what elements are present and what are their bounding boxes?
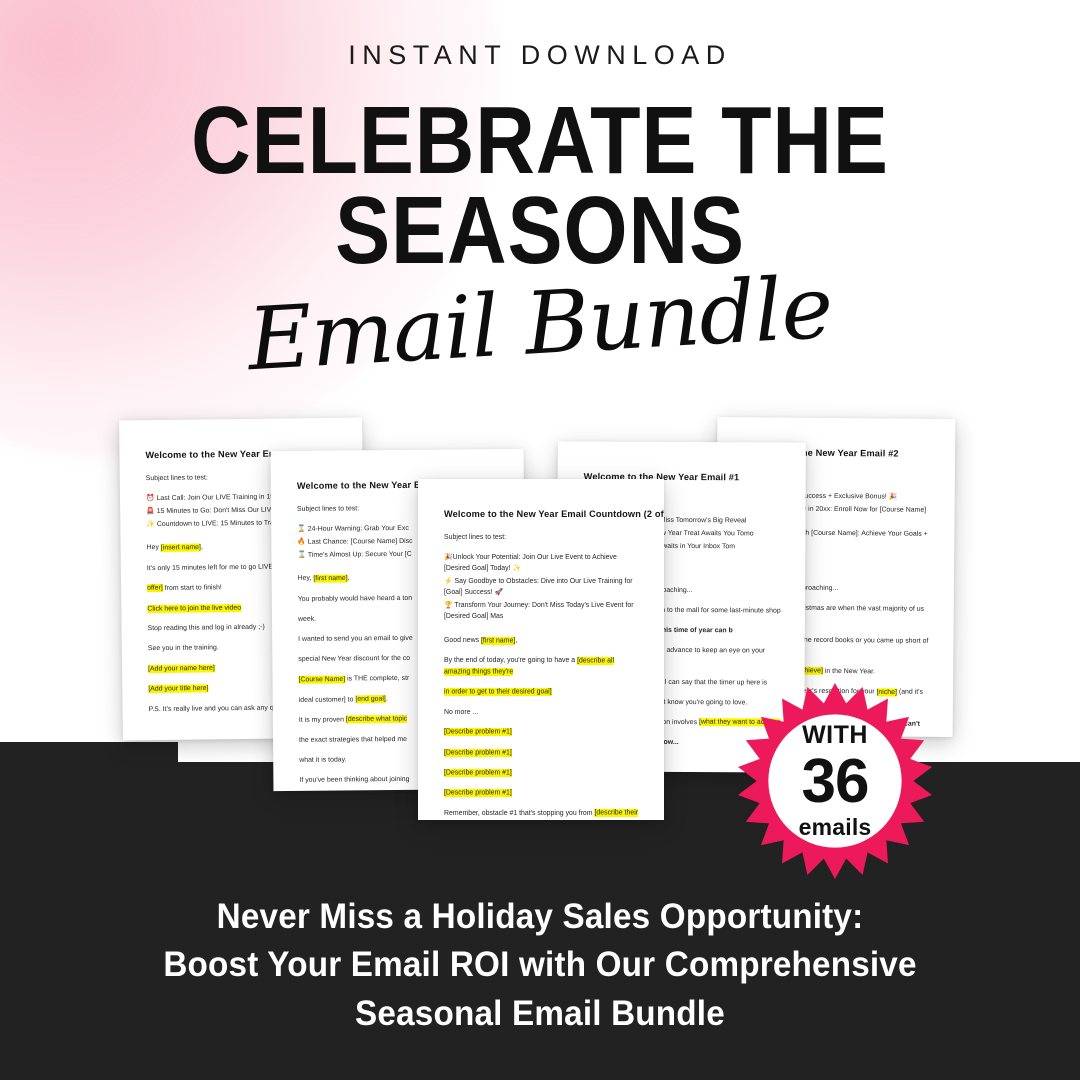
body-paragraph: Good news [first name], — [444, 635, 642, 646]
body-paragraph: [Describe problem #1] — [444, 727, 642, 738]
badge-text-group: WITH 36 emails — [737, 683, 933, 879]
body-paragraph: [Describe problem #1] — [444, 747, 642, 758]
email-count-badge: WITH 36 emails — [737, 683, 933, 879]
body-paragraph: No more ... — [444, 707, 642, 718]
body-paragraph: By the end of today, you're going to hav… — [444, 655, 642, 677]
document-heading: Welcome to the New Year Email Countdown … — [444, 509, 642, 519]
document-page-3: Welcome to the New Year Email Countdown … — [418, 479, 664, 820]
body-paragraph: in order to get to their desired goal] — [444, 687, 642, 698]
badge-top-label: WITH — [802, 723, 868, 748]
document-page-3-content: Welcome to the New Year Email Countdown … — [418, 479, 664, 820]
footer-tagline: Never Miss a Holiday Sales Opportunity: … — [27, 893, 1053, 1038]
footer-tagline-line-3: Seasonal Email Bundle — [27, 990, 1053, 1038]
footer-tagline-line-1: Never Miss a Holiday Sales Opportunity: — [27, 893, 1053, 941]
poster-canvas: INSTANT DOWNLOAD CELEBRATE THE SEASONS E… — [0, 0, 1080, 1080]
subject-lines-label: Subject lines to test: — [444, 532, 642, 543]
spacer — [444, 624, 642, 635]
subject-line-item: 🏆 Transform Your Journey: Don't Miss Tod… — [444, 600, 642, 622]
subject-line-list: 🎉Unlock Your Potential: Join Our Live Ev… — [444, 552, 642, 622]
body-paragraph: [Describe problem #1] — [444, 788, 642, 799]
badge-count: 36 — [802, 751, 869, 813]
body-paragraph: Remember, obstacle #1 that's stopping yo… — [444, 808, 642, 820]
body-paragraph: [Describe problem #1] — [444, 767, 642, 778]
subject-line-item: 🎉Unlock Your Potential: Join Our Live Ev… — [444, 552, 642, 574]
badge-unit-label: emails — [799, 816, 872, 839]
subject-line-item: ⚡ Say Goodbye to Obstacles: Dive into Ou… — [444, 576, 642, 598]
footer-tagline-line-2: Boost Your Email ROI with Our Comprehens… — [27, 941, 1053, 989]
